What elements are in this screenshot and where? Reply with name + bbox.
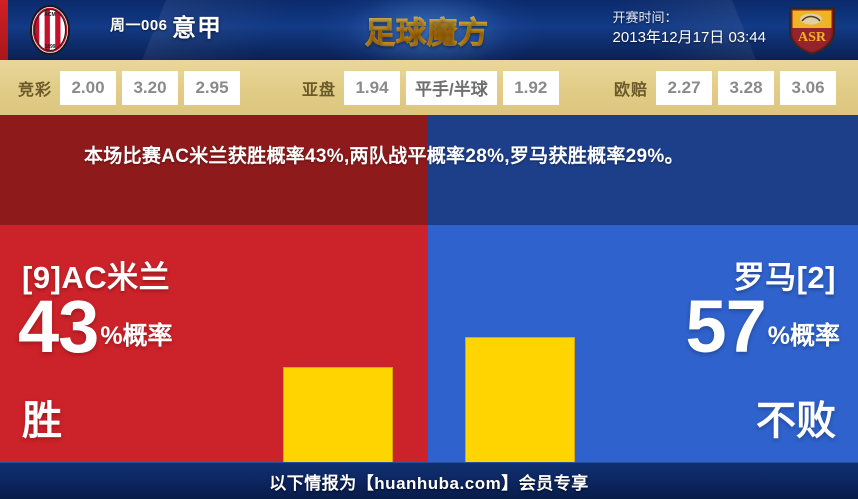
away-probability-unit: %概率 [768,316,840,362]
odds-cell-away[interactable]: 3.06 [780,71,836,105]
odds-group-asian: 亚盘 1.94 平手/半球 1.92 [302,71,565,105]
home-probability-value: 43 [18,292,98,362]
home-probability-bar [283,367,393,462]
left-accent-stripe [0,0,8,60]
away-probability-bar [465,337,575,462]
header-bar: ACM 1899 周一006 意甲 足球魔方 开赛时间： 2013年12月17日… [0,0,858,60]
odds-cell-draw[interactable]: 3.20 [122,71,178,105]
home-verdict: 胜 [22,388,62,446]
odds-group-label: 欧赔 [614,76,648,100]
odds-cell-home[interactable]: 2.27 [656,71,712,105]
match-number: 周一006 [110,14,168,35]
kickoff-time: 2013年12月17日 03:44 [613,27,766,48]
site-logo-text: 足球魔方 [365,8,489,52]
as-roma-crest-icon: ASR [784,4,840,56]
home-probability: 43 %概率 [18,292,173,362]
summary-text: 本场比赛AC米兰获胜概率43%,两队战平概率28%,罗马获胜概率29%。 [84,141,784,173]
svg-text:ACM: ACM [44,12,55,18]
ac-milan-crest-icon: ACM 1899 [24,4,76,56]
summary-band: 本场比赛AC米兰获胜概率43%,两队战平概率28%,罗马获胜概率29%。 [0,115,858,225]
footer-bar: 以下情报为【huanhuba.com】会员专享 [0,462,858,499]
odds-cell-away[interactable]: 1.92 [503,71,559,105]
svg-text:ASR: ASR [798,30,827,45]
odds-group-label: 亚盘 [302,76,336,100]
odds-cell-handicap[interactable]: 平手/半球 [406,71,497,105]
kickoff-block: 开赛时间： 2013年12月17日 03:44 [613,9,766,48]
odds-group-label: 竞彩 [18,76,52,100]
away-probability-value: 57 [685,292,765,362]
site-logo: 足球魔方 [352,6,502,54]
away-probability: 57 %概率 [685,292,840,362]
footer-text: 以下情报为【huanhuba.com】会员专享 [269,469,588,494]
home-probability-unit: %概率 [100,316,172,362]
league-name: 意甲 [172,8,222,43]
odds-cell-draw[interactable]: 3.28 [718,71,774,105]
odds-group-jingcai: 竞彩 2.00 3.20 2.95 [18,71,246,105]
svg-text:1899: 1899 [44,44,55,50]
kickoff-label: 开赛时间： [613,9,766,27]
odds-group-european: 欧赔 2.27 3.28 3.06 [614,71,842,105]
odds-cell-home[interactable]: 1.94 [344,71,400,105]
odds-cell-away[interactable]: 2.95 [184,71,240,105]
odds-bar: 竞彩 2.00 3.20 2.95 亚盘 1.94 平手/半球 1.92 欧赔 … [0,60,858,115]
away-verdict: 不败 [756,388,836,446]
odds-cell-home[interactable]: 2.00 [60,71,116,105]
infographic-page: ACM 1899 周一006 意甲 足球魔方 开赛时间： 2013年12月17日… [0,0,858,499]
